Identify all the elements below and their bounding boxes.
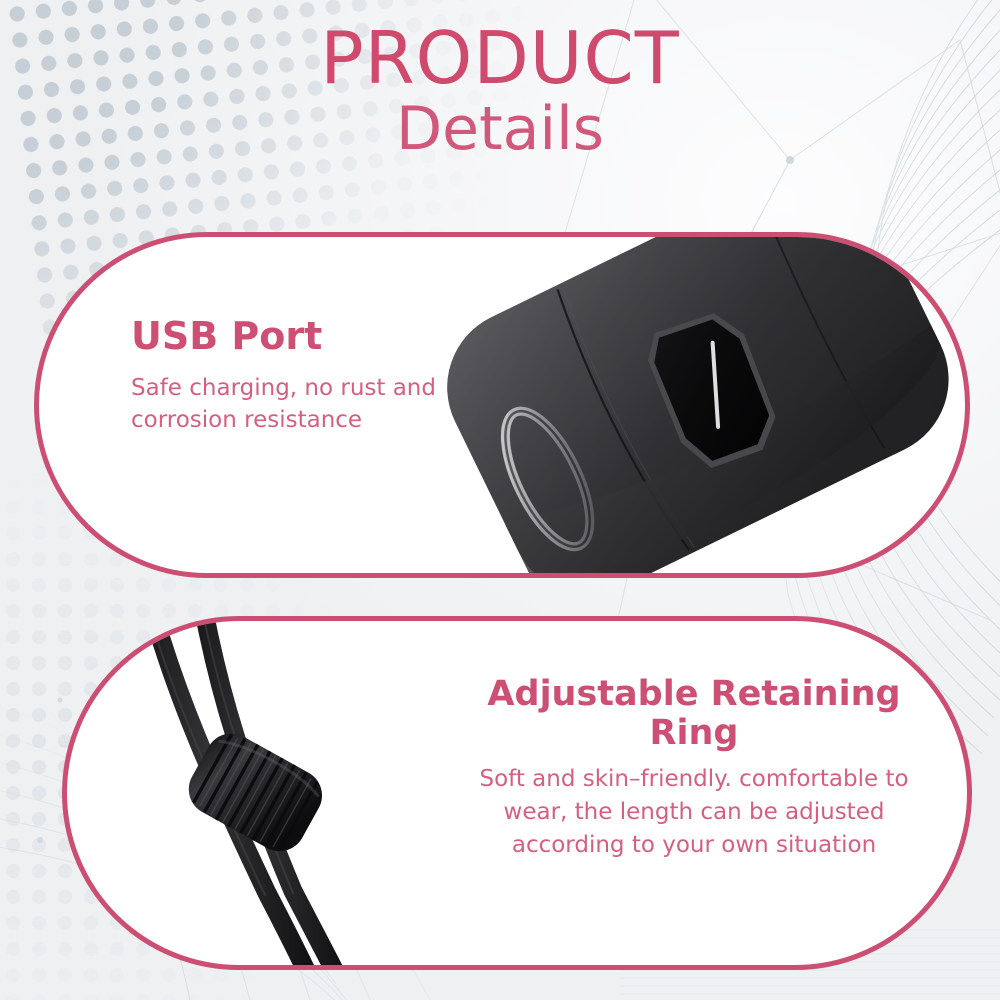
page-header: PRODUCT Details [0,22,1000,162]
page-title-main: PRODUCT [0,22,1000,94]
usb-port-heading: USB Port [131,315,531,358]
retaining-ring-text-block: Adjustable Retaining Ring Soft and skin–… [459,675,929,861]
retaining-ring-heading: Adjustable Retaining Ring [459,675,929,753]
usb-port-text-block: USB Port Safe charging, no rust and corr… [131,315,531,437]
product-details-page: PRODUCT Details [0,0,1000,1000]
feature-card-retaining-ring: Adjustable Retaining Ring Soft and skin–… [62,616,972,970]
feature-card-usb-port: USB Port Safe charging, no rust and corr… [34,232,970,578]
retaining-ring-photo [87,616,467,970]
page-title-sub: Details [0,96,1000,162]
usb-port-description: Safe charging, no rust and corrosion res… [131,372,531,437]
retaining-ring-description: Soft and skin–friendly. comfortable to w… [459,763,929,861]
